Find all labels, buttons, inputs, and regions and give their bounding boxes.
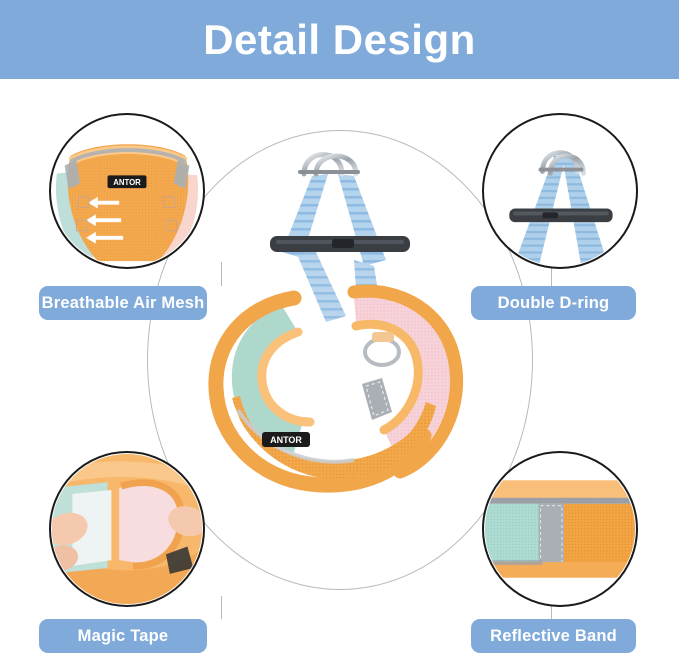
- page-title: Detail Design: [203, 19, 476, 61]
- connector-tick-bottom-left: [221, 596, 222, 619]
- label-text: Double D-ring: [498, 294, 610, 313]
- detail-circle-magic-tape[interactable]: [49, 451, 205, 607]
- reflective-band-photo: [484, 453, 636, 605]
- label-text: Breathable Air Mesh: [42, 294, 205, 313]
- product-image: ANTOR: [186, 140, 486, 515]
- label-breathable-air-mesh[interactable]: Breathable Air Mesh: [39, 286, 207, 320]
- header-banner: Detail Design: [0, 0, 679, 79]
- detail-circle-reflective-band[interactable]: [482, 451, 638, 607]
- leash-d-ring: [365, 339, 399, 365]
- detail-circle-double-d-ring[interactable]: [482, 113, 638, 269]
- label-double-d-ring[interactable]: Double D-ring: [471, 286, 636, 320]
- label-reflective-band[interactable]: Reflective Band: [471, 619, 636, 653]
- label-text: Magic Tape: [78, 627, 169, 646]
- infographic-page: Detail Design: [0, 0, 679, 656]
- double-d-ring-photo: [484, 115, 636, 267]
- brand-tag-label: ANTOR: [113, 178, 141, 187]
- magic-tape-photo: [51, 453, 203, 605]
- label-text: Reflective Band: [490, 627, 617, 646]
- right-shoulder-strap: [338, 174, 386, 266]
- reflective-strip: [362, 378, 392, 420]
- detail-circle-breathable-air-mesh[interactable]: ANTOR: [49, 113, 205, 269]
- product-brand-tag-label: ANTOR: [270, 435, 302, 445]
- breathable-air-mesh-photo: ANTOR: [51, 115, 203, 267]
- label-magic-tape[interactable]: Magic Tape: [39, 619, 207, 653]
